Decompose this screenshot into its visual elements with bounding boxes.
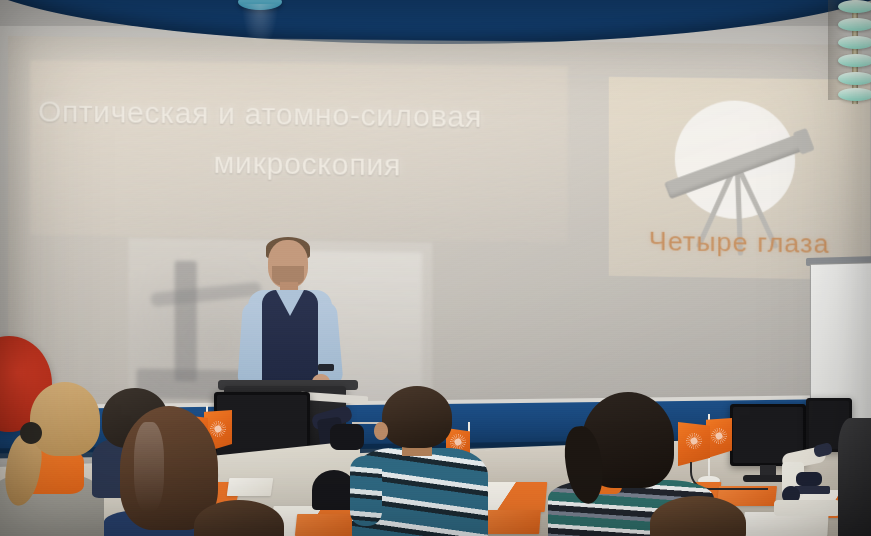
audience-member [194, 500, 284, 536]
attendee-head [194, 500, 284, 536]
microscope-objective-turret [796, 472, 822, 486]
coil-lamp-turn [838, 18, 871, 31]
audience-member [358, 386, 484, 536]
coil-lamp-turn [838, 88, 871, 101]
attendee-hair-highlight [134, 422, 164, 512]
coil-lamp-shadow [828, 0, 848, 100]
microscope-eyepiece [813, 442, 833, 458]
slide-title: Оптическая и атомно-силовая микроскопия [38, 88, 566, 193]
audience-member [838, 418, 871, 536]
coil-lamp-turn [838, 36, 871, 49]
attendee-head [382, 386, 452, 448]
pendant-lamp-glow [242, 4, 278, 48]
slide-title-line-1: Оптическая и атомно-силовая [38, 95, 482, 134]
right-microscope [760, 452, 842, 522]
coil-lamp-turn [838, 0, 871, 13]
slide-title-line-2: микроскопия [38, 137, 566, 193]
attendee-arm [350, 456, 382, 526]
attendee-hair-tie [20, 422, 42, 444]
attendee-ear [374, 422, 388, 440]
attendee-torso [838, 418, 871, 536]
projected-slide: Оптическая и атомно-силовая микроскопия … [8, 36, 862, 445]
brand-logo-panel: Четыре глаза [609, 77, 870, 280]
attendee-head [30, 382, 100, 456]
slide-photo-rig [175, 261, 197, 382]
flag-emblem-icon [711, 428, 727, 444]
microscope-base [774, 500, 840, 516]
attendee-head [650, 496, 746, 536]
coil-lamp-icon [840, 0, 871, 104]
coil-lamp-turn [838, 54, 871, 67]
coil-lamp-turn [838, 72, 871, 85]
presenter-wristwatch [318, 364, 334, 371]
pendant-lamp-icon [238, 0, 282, 16]
audience-member [650, 496, 746, 536]
room-photo-scene: Оптическая и атомно-силовая микроскопия … [0, 0, 871, 536]
